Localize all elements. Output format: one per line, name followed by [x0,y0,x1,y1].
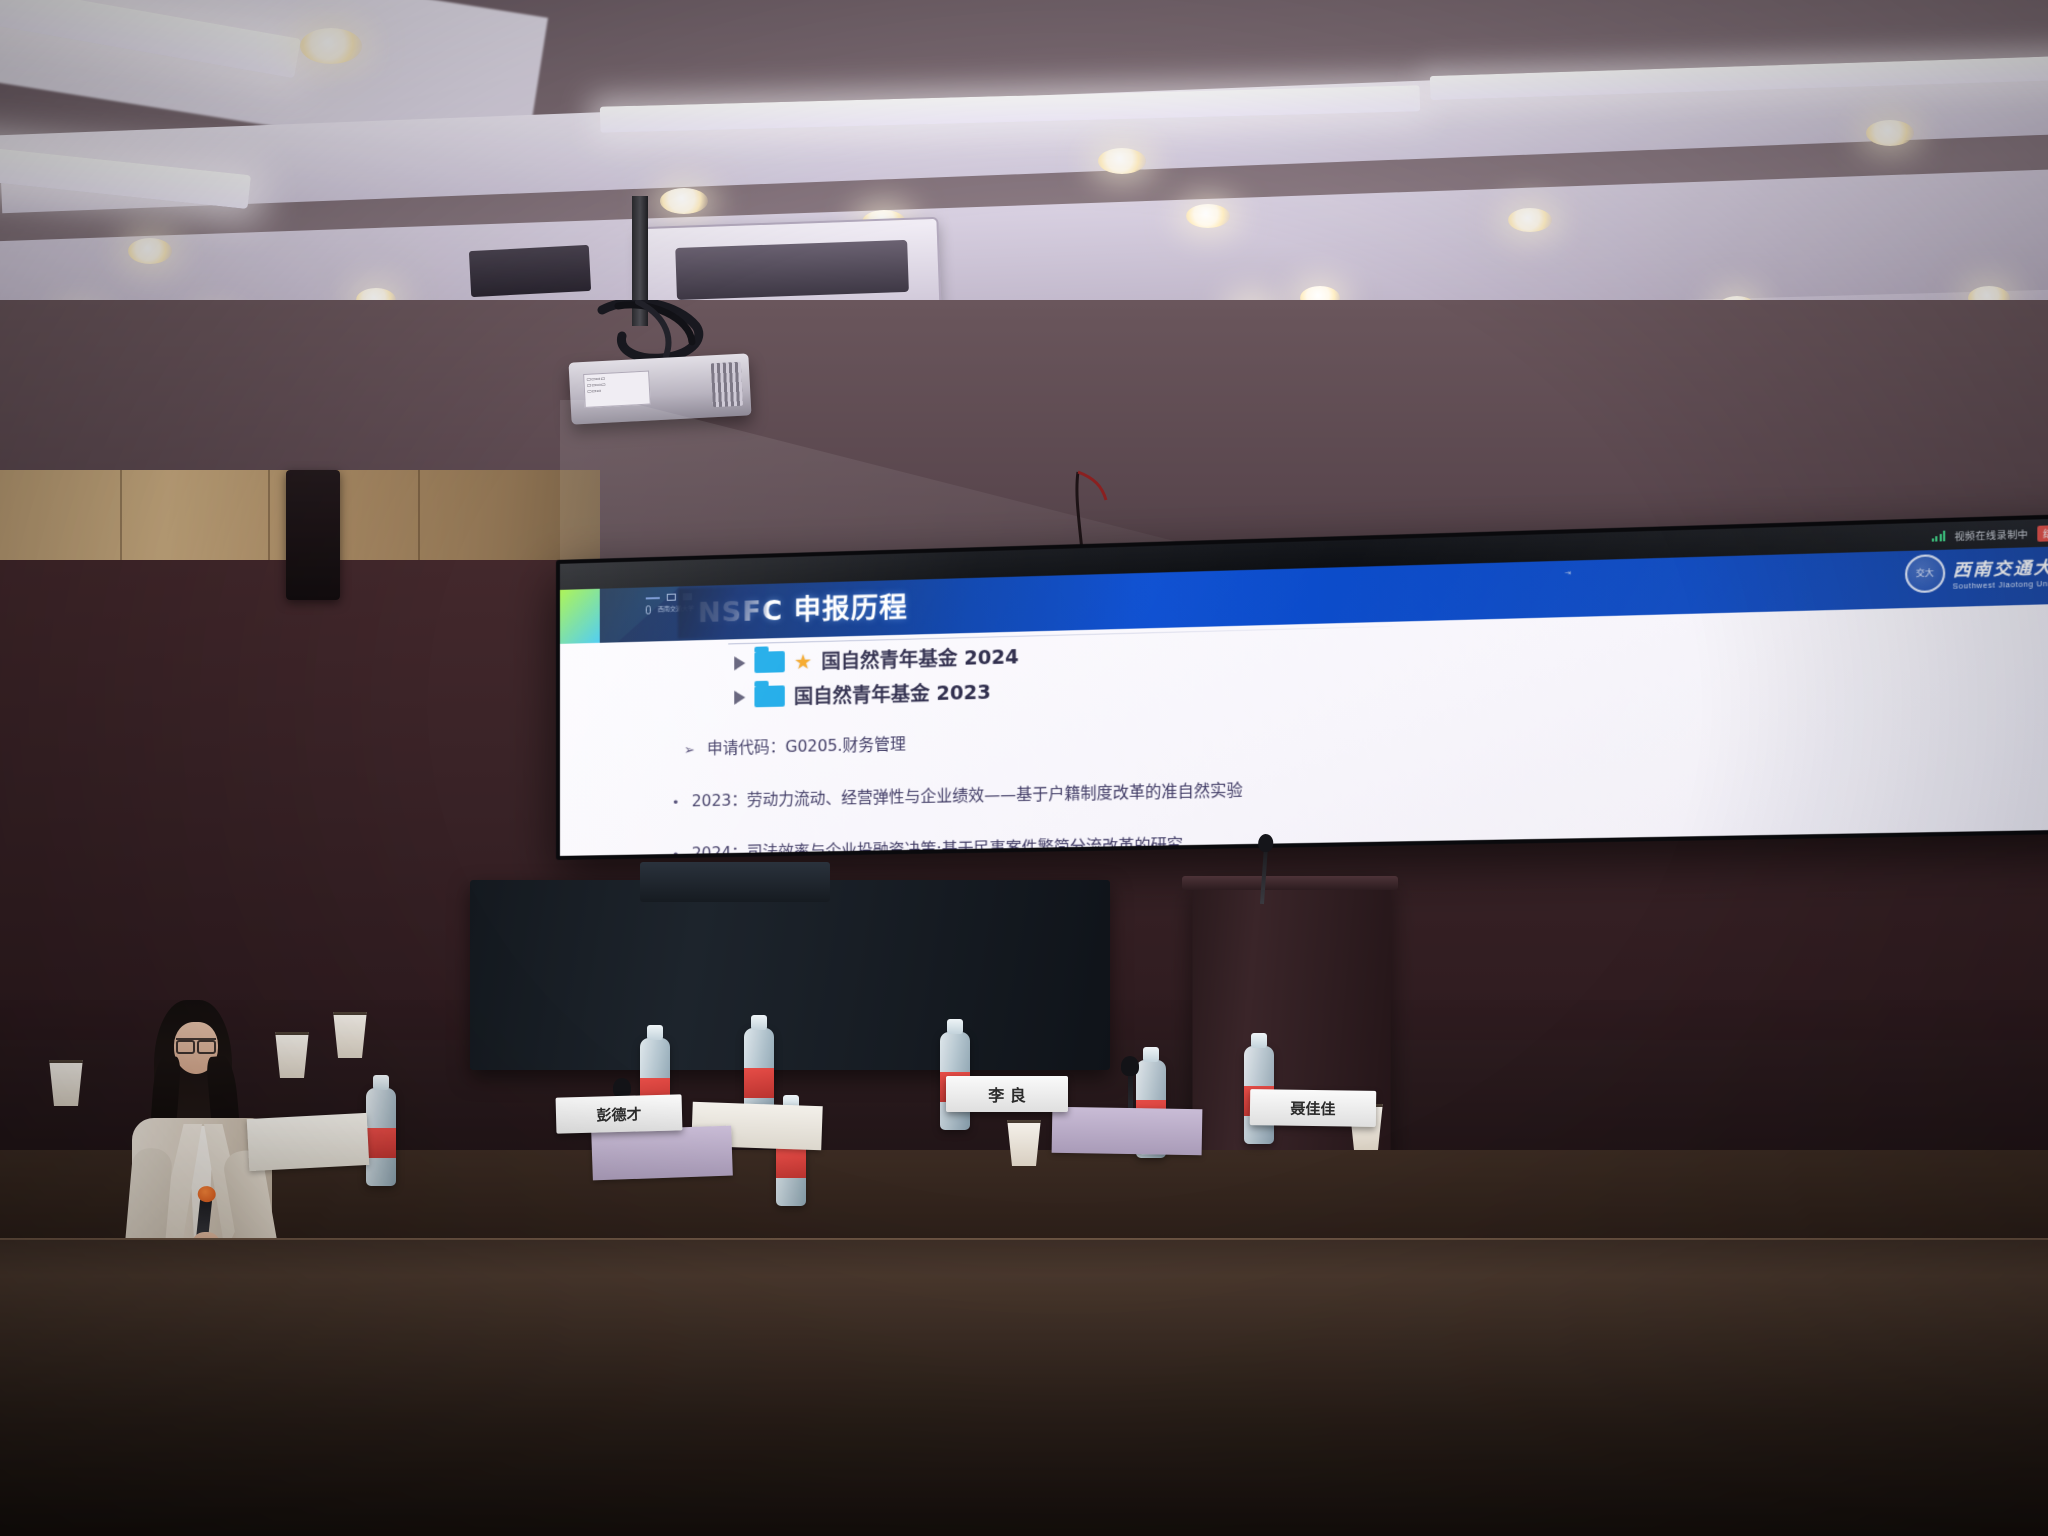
front-desk [470,880,1110,1070]
downlight [300,28,362,64]
meeting-status-group: 视频在线录制中 结束共享 [1931,524,2048,545]
bullet-text: 申请代码：G0205.财务管理 [707,732,906,759]
signal-icon [1931,531,1945,542]
bullet-marker-arrow: ➢ [684,743,695,758]
audience-table [0,1240,2048,1536]
university-name-block: 西南交通大学 Southwest Jiaotong University [1953,552,2048,591]
restore-icon[interactable] [667,594,676,601]
nameplate: 李 良 [946,1076,1068,1112]
downlight [1098,148,1146,174]
folder-item-2023[interactable]: 国自然青年基金 2023 [734,677,991,711]
screen-bezel: 视频在线录制中 结束共享 [556,513,2048,860]
presentation-screen[interactable]: 视频在线录制中 结束共享 [556,560,2018,860]
slide-body: ★ 国自然青年基金 2024 国自然青年基金 2023 ➢ 申请代码：G0205… [560,603,2048,856]
downlight [660,188,708,214]
university-name-cn: 西南交通大学 [1953,552,2048,581]
bullet-topic-2023: • 2023：劳动力流动、经营弹性与企业绩效——基于户籍制度改革的准自然实验 [672,778,1243,812]
stop-share-button[interactable]: 结束共享 [2037,524,2048,542]
wall-speaker [286,470,340,600]
nameplate-text: 彭德才 [596,1103,642,1125]
bullet-marker-dot: • [672,848,680,856]
downlight [128,238,172,264]
nameplate-text: 李 良 [988,1082,1026,1106]
star-icon: ★ [794,651,812,672]
photo-scene: ▭▭▭▭▭▭▭▭▭▭▭ 视频在线录制中 结束共享 [0,0,2048,1536]
folder-item-2024[interactable]: ★ 国自然青年基金 2024 [734,642,1018,677]
nameplate-text: 聂佳佳 [1290,1097,1335,1119]
chrome-expand-icon[interactable]: ⇥ [1565,569,1571,578]
university-seal-icon: 交大 [1905,554,1945,593]
document-folder [591,1126,733,1181]
minimize-icon[interactable] [646,597,660,599]
folder-icon [754,685,784,707]
powerpoint-slide[interactable]: 西南交通大学 ⇥ NSFC 申报历程 交大 西南交通大学 [560,545,2048,856]
downlight [1508,208,1552,232]
expand-triangle-icon[interactable] [734,690,745,704]
seal-text: 交大 [1916,569,1934,578]
glasses-icon [176,1038,216,1048]
nameplate: 聂佳佳 [1250,1089,1376,1127]
title-occlusion-overlay [678,586,767,639]
folder-icon [754,651,784,673]
ceiling-projector: ▭▭▭▭▭▭▭▭▭▭▭ [569,353,752,424]
university-name-en: Southwest Jiaotong University [1953,579,2048,590]
document-paper [247,1113,370,1171]
podium-top [1182,876,1398,890]
projector-label: ▭▭▭▭▭▭▭▭▭▭▭ [583,371,651,408]
recording-status-label: 视频在线录制中 [1954,527,2028,543]
bullet-text: 2023：劳动力流动、经营弹性与企业绩效——基于户籍制度改革的准自然实验 [692,778,1243,811]
user-icon [646,605,651,614]
bullet-application-code: ➢ 申请代码：G0205.财务管理 [684,732,906,759]
folder-label: 国自然青年基金 2023 [794,677,991,709]
water-bottle [366,1088,396,1186]
downlight [1186,204,1230,228]
bullet-text: 2024：司法效率与企业投融资决策:基于民事案件繁简分流改革的研究 [692,833,1184,856]
nameplate: 彭德才 [556,1094,683,1133]
bullet-topic-2024: • 2024：司法效率与企业投融资决策:基于民事案件繁简分流改革的研究 [672,833,1183,856]
bullet-marker-dot: • [672,796,680,811]
downlight [1866,120,1914,146]
front-desk-riser [640,862,830,902]
air-vent [469,245,591,297]
folder-label: 国自然青年基金 2024 [821,642,1018,674]
university-logo: 交大 西南交通大学 Southwest Jiaotong University [1905,550,2048,593]
expand-triangle-icon[interactable] [734,656,745,670]
document-folder [1052,1107,1203,1156]
screen-display[interactable]: 视频在线录制中 结束共享 [560,517,2048,856]
